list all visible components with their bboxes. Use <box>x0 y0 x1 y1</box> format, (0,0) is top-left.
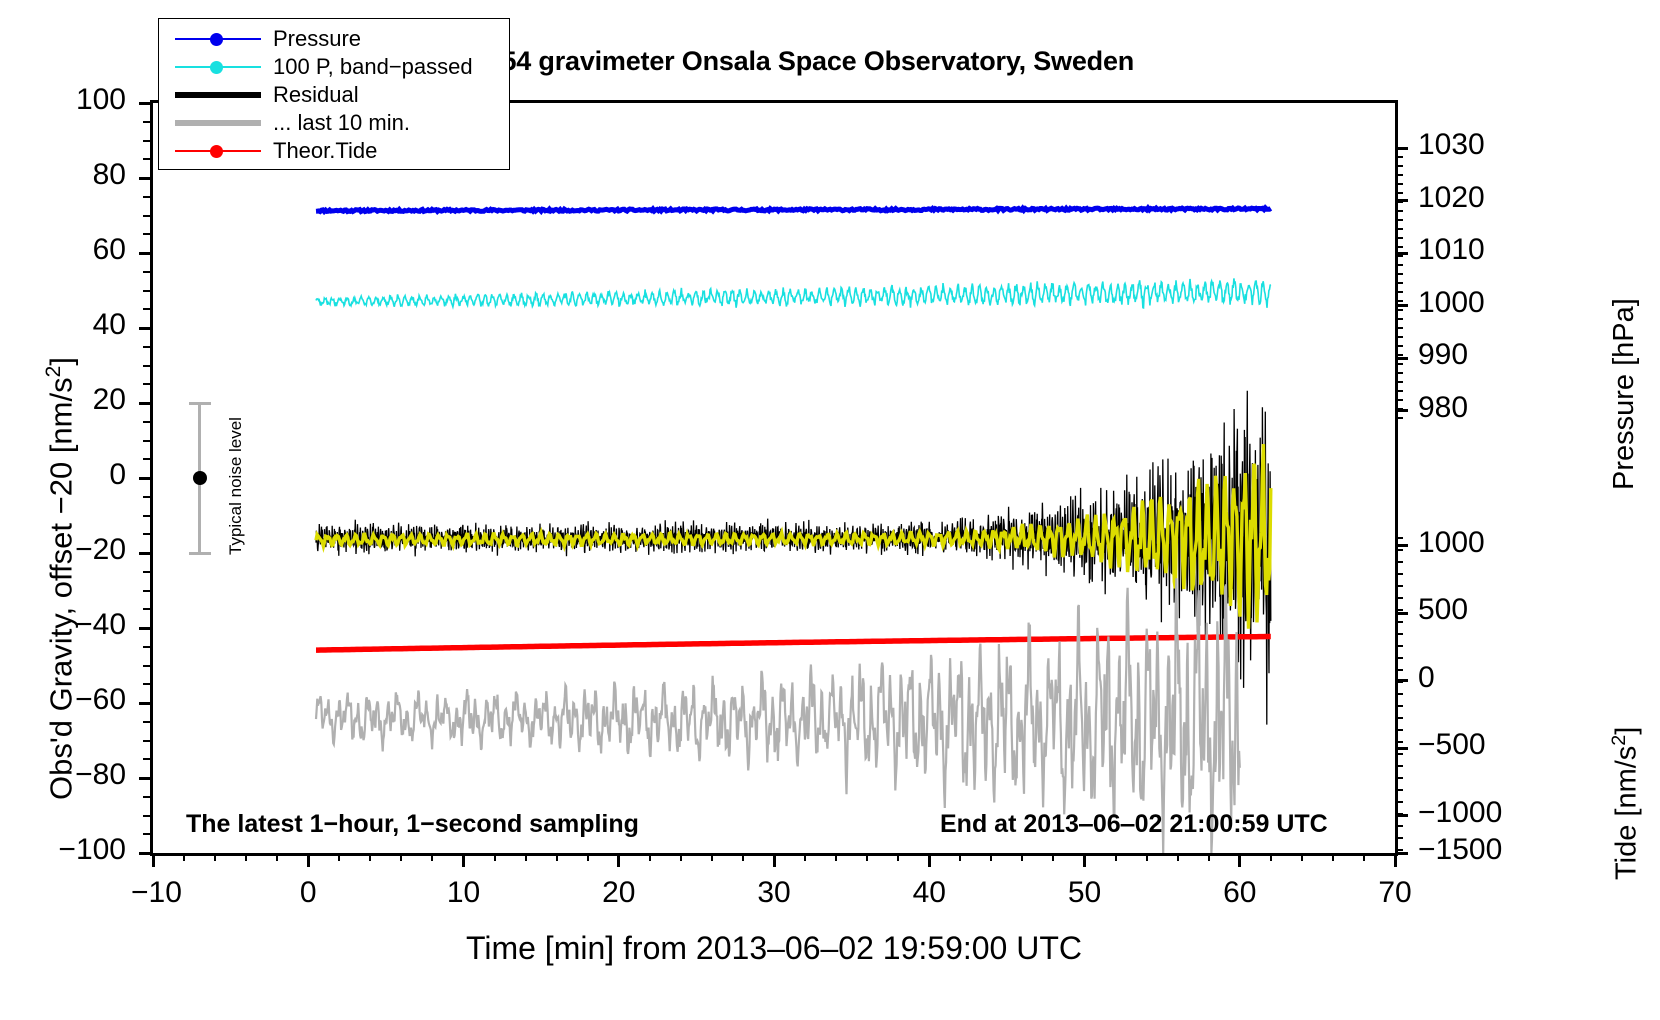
x-tick-minor <box>183 853 185 861</box>
y-tick-minor-tide <box>1395 585 1403 587</box>
x-tick-minor <box>1021 853 1023 861</box>
y-tick-minor-left <box>143 271 152 273</box>
y-tick-major-left <box>139 252 153 255</box>
legend-key-icon <box>175 25 261 53</box>
y-tick-minor-tide <box>1395 645 1403 647</box>
y-tick-label-pressure: 990 <box>1418 338 1468 372</box>
y-tick-minor-left <box>143 158 152 160</box>
x-tick-minor <box>835 853 837 861</box>
legend-key-icon <box>175 81 261 109</box>
series-bandpassed <box>316 278 1271 308</box>
y-axis-pressure-title: Pressure [hPa] <box>1608 298 1641 490</box>
y-tick-minor-left <box>143 683 152 685</box>
x-tick-major <box>462 853 465 867</box>
y-tick-minor-tide <box>1395 789 1403 791</box>
y-tick-label-left: −60 <box>0 683 126 717</box>
y-tick-minor-pressure <box>1395 174 1403 176</box>
legend-item-1[interactable]: 100 P, band−passed <box>159 53 509 81</box>
y-tick-major-left <box>139 627 153 630</box>
end-time-note: End at 2013‒06‒02 21:00:59 UTC <box>940 810 1328 839</box>
y-tick-label-left: −40 <box>0 608 126 642</box>
y-tick-minor-pressure <box>1395 417 1403 419</box>
y-tick-major-left <box>139 852 153 855</box>
y-tick-minor-left <box>143 346 152 348</box>
y-tick-minor-tide <box>1395 849 1403 851</box>
y-tick-major-left <box>139 327 153 330</box>
legend: Pressure100 P, band−passedResidual... la… <box>158 18 510 170</box>
x-tick-minor <box>649 853 651 861</box>
y-tick-label-left: −100 <box>0 833 126 867</box>
y-tick-minor-left <box>143 215 152 217</box>
x-tick-minor <box>431 853 433 861</box>
y-tick-minor-tide <box>1395 657 1403 659</box>
y-tick-label-tide: 0 <box>1418 661 1435 695</box>
y-tick-minor-pressure <box>1395 327 1403 329</box>
y-tick-minor-left <box>143 233 152 235</box>
y-tick-minor-pressure <box>1395 228 1403 230</box>
y-tick-label-pressure: 1000 <box>1418 286 1485 320</box>
x-tick-minor <box>804 853 806 861</box>
y-tick-minor-pressure <box>1395 318 1403 320</box>
y-tick-minor-tide <box>1395 537 1403 539</box>
y-tick-label-left: −80 <box>0 758 126 792</box>
x-tick-minor <box>1146 853 1148 861</box>
y-tick-minor-left <box>143 833 152 835</box>
x-tick-minor <box>866 853 868 861</box>
x-tick-minor <box>959 853 961 861</box>
y-tick-major-left <box>139 102 153 105</box>
y-tick-minor-left <box>143 421 152 423</box>
x-tick-minor <box>1208 853 1210 861</box>
y-axis-left-title-text: Obs'd Gravity, offset −20 [nm/s <box>43 377 78 800</box>
x-tick-major <box>1394 853 1397 867</box>
x-tick-minor <box>990 853 992 861</box>
y-tick-minor-tide <box>1395 609 1403 611</box>
y-tick-minor-pressure <box>1395 291 1403 293</box>
y-tick-minor-pressure <box>1395 156 1403 158</box>
y-tick-minor-left <box>143 365 152 367</box>
y-tick-major-left <box>139 177 153 180</box>
y-tick-minor-left <box>143 740 152 742</box>
x-tick-minor <box>1177 853 1179 861</box>
x-tick-minor <box>1363 853 1365 861</box>
legend-label: Pressure <box>273 26 361 52</box>
y-tick-minor-tide <box>1395 801 1403 803</box>
legend-key-icon <box>175 109 261 137</box>
x-tick-major <box>1083 853 1086 867</box>
y-tick-major-pressure <box>1395 304 1408 307</box>
y-tick-minor-tide <box>1395 729 1403 731</box>
y-tick-minor-pressure <box>1395 255 1403 257</box>
y-tick-minor-pressure <box>1395 399 1403 401</box>
y-tick-label-pressure: 980 <box>1418 391 1468 425</box>
y-tick-minor-left <box>143 440 152 442</box>
x-tick-label: 10 <box>442 876 486 910</box>
y-tick-minor-left <box>143 196 152 198</box>
x-tick-minor <box>897 853 899 861</box>
x-tick-minor <box>400 853 402 861</box>
y-tick-label-pressure: 1030 <box>1418 128 1485 162</box>
y-tick-minor-pressure <box>1395 246 1403 248</box>
x-tick-minor <box>369 853 371 861</box>
legend-key-icon <box>175 137 261 165</box>
legend-marker-dot-icon <box>210 145 223 158</box>
y-tick-minor-pressure <box>1395 390 1403 392</box>
y-tick-minor-left <box>143 121 152 123</box>
plot-area <box>150 100 1398 856</box>
y-tick-minor-pressure <box>1395 192 1403 194</box>
y-tick-major-left <box>139 777 153 780</box>
y-axis-tide-title-text: Tide [nm/s <box>1611 746 1643 880</box>
y-tick-minor-pressure <box>1395 381 1403 383</box>
y-tick-minor-tide <box>1395 837 1403 839</box>
y-tick-minor-pressure <box>1395 336 1403 338</box>
y-tick-minor-pressure <box>1395 282 1403 284</box>
y-tick-major-left <box>139 702 153 705</box>
y-tick-minor-tide <box>1395 621 1403 623</box>
y-tick-minor-pressure <box>1395 273 1403 275</box>
y-tick-minor-left <box>143 533 152 535</box>
y-tick-minor-pressure <box>1395 372 1403 374</box>
legend-marker-dot-icon <box>210 33 223 46</box>
y-tick-minor-pressure <box>1395 219 1403 221</box>
y-tick-minor-tide <box>1395 741 1403 743</box>
x-tick-major <box>928 853 931 867</box>
plot-svg <box>153 103 1395 853</box>
y-tick-minor-tide <box>1395 753 1403 755</box>
y-axis-left-title: Obs'd Gravity, offset −20 [nm/s2] <box>42 357 79 800</box>
y-tick-label-tide: 1000 <box>1418 526 1485 560</box>
y-tick-label-left: 20 <box>0 383 126 417</box>
y-tick-label-left: 100 <box>0 83 126 117</box>
y-tick-minor-left <box>143 608 152 610</box>
x-tick-major <box>1238 853 1241 867</box>
y-tick-major-tide <box>1395 612 1408 615</box>
y-tick-minor-left <box>143 496 152 498</box>
x-tick-label: 50 <box>1063 876 1107 910</box>
y-tick-minor-left <box>143 383 152 385</box>
y-tick-major-left <box>139 552 153 555</box>
y-tick-minor-tide <box>1395 597 1403 599</box>
y-axis-tide-title-sup: 2 <box>1608 735 1630 746</box>
y-tick-minor-tide <box>1395 825 1403 827</box>
y-tick-major-pressure <box>1395 357 1408 360</box>
y-tick-minor-left <box>143 140 152 142</box>
legend-label: 100 P, band−passed <box>273 54 473 80</box>
y-tick-minor-pressure <box>1395 147 1403 149</box>
legend-key-icon <box>175 53 261 81</box>
x-tick-minor <box>711 853 713 861</box>
y-tick-minor-pressure <box>1395 345 1403 347</box>
y-tick-label-left: −20 <box>0 533 126 567</box>
y-tick-minor-left <box>143 758 152 760</box>
x-tick-label: 60 <box>1218 876 1262 910</box>
x-tick-minor <box>1270 853 1272 861</box>
legend-label: ... last 10 min. <box>273 110 410 136</box>
y-tick-minor-pressure <box>1395 237 1403 239</box>
y-tick-minor-tide <box>1395 765 1403 767</box>
x-tick-minor <box>1052 853 1054 861</box>
y-tick-minor-pressure <box>1395 201 1403 203</box>
legend-item-4[interactable]: Theor.Tide <box>159 137 509 165</box>
x-tick-label: 30 <box>752 876 796 910</box>
series-pressure <box>316 208 1271 212</box>
y-tick-minor-pressure <box>1395 300 1403 302</box>
x-tick-major <box>307 853 310 867</box>
y-tick-minor-left <box>143 721 152 723</box>
y-axis-tide-title-close: ] <box>1611 727 1643 735</box>
x-tick-label: 70 <box>1373 876 1417 910</box>
y-axis-left-title-sup: 2 <box>42 366 65 378</box>
y-tick-minor-left <box>143 515 152 517</box>
y-tick-minor-left <box>143 458 152 460</box>
y-tick-label-left: 60 <box>0 233 126 267</box>
y-tick-minor-left <box>143 571 152 573</box>
y-tick-minor-pressure <box>1395 354 1403 356</box>
y-tick-minor-left <box>143 815 152 817</box>
x-tick-minor <box>1115 853 1117 861</box>
y-tick-label-left: 0 <box>0 458 126 492</box>
y-tick-minor-tide <box>1395 561 1403 563</box>
y-tick-minor-pressure <box>1395 363 1403 365</box>
legend-item-3[interactable]: ... last 10 min. <box>159 109 509 137</box>
y-tick-minor-left <box>143 646 152 648</box>
legend-item-0[interactable]: Pressure <box>159 25 509 53</box>
y-tick-major-left <box>139 402 153 405</box>
x-tick-minor <box>494 853 496 861</box>
x-tick-minor <box>245 853 247 861</box>
noise-error-cap <box>189 402 211 405</box>
y-tick-label-pressure: 1010 <box>1418 233 1485 267</box>
y-tick-minor-left <box>143 590 152 592</box>
x-tick-major <box>773 853 776 867</box>
y-tick-minor-tide <box>1395 705 1403 707</box>
x-tick-label: −10 <box>131 876 175 910</box>
y-tick-minor-left <box>143 665 152 667</box>
y-tick-minor-pressure <box>1395 210 1403 212</box>
sampling-note: The latest 1−hour, 1−second sampling <box>186 810 639 839</box>
y-tick-major-left <box>139 477 153 480</box>
y-tick-minor-tide <box>1395 717 1403 719</box>
x-tick-label: 40 <box>907 876 951 910</box>
x-tick-label: 20 <box>597 876 641 910</box>
x-tick-minor <box>276 853 278 861</box>
y-tick-major-tide <box>1395 544 1408 547</box>
legend-marker-dot-icon <box>210 61 223 74</box>
noise-center-dot <box>193 471 207 485</box>
y-tick-minor-left <box>143 290 152 292</box>
y-tick-minor-tide <box>1395 777 1403 779</box>
x-tick-major <box>617 853 620 867</box>
x-tick-minor <box>1332 853 1334 861</box>
x-tick-minor <box>338 853 340 861</box>
x-tick-minor <box>680 853 682 861</box>
y-tick-minor-tide <box>1395 681 1403 683</box>
y-tick-label-tide: 500 <box>1418 593 1468 627</box>
legend-line-swatch <box>175 120 261 126</box>
y-tick-minor-pressure <box>1395 183 1403 185</box>
y-tick-label-pressure: 1020 <box>1418 181 1485 215</box>
y-tick-minor-tide <box>1395 633 1403 635</box>
chart-page: SCG_054 gravimeter Onsala Space Observat… <box>0 0 1660 1020</box>
y-tick-minor-pressure <box>1395 264 1403 266</box>
y-tick-minor-left <box>143 796 152 798</box>
y-tick-major-tide <box>1395 747 1408 750</box>
x-tick-label: 0 <box>286 876 330 910</box>
y-tick-minor-left <box>143 308 152 310</box>
x-tick-minor <box>587 853 589 861</box>
y-tick-label-left: 40 <box>0 308 126 342</box>
noise-level-label: Typical noise level <box>226 417 246 555</box>
y-tick-minor-tide <box>1395 669 1403 671</box>
y-tick-label-tide: −500 <box>1418 728 1486 762</box>
y-tick-major-tide <box>1395 852 1408 855</box>
legend-line-swatch <box>175 92 261 98</box>
x-axis-title: Time [min] from 2013‒06‒02 19:59:00 UTC <box>150 930 1398 967</box>
y-axis-left-title-close: ] <box>43 357 78 366</box>
legend-label: Residual <box>273 82 359 108</box>
x-tick-minor <box>742 853 744 861</box>
y-tick-minor-tide <box>1395 813 1403 815</box>
x-tick-minor <box>556 853 558 861</box>
y-tick-minor-tide <box>1395 693 1403 695</box>
x-tick-minor <box>525 853 527 861</box>
y-tick-label-left: 80 <box>0 158 126 192</box>
x-tick-major <box>152 853 155 867</box>
y-axis-tide-title: Tide [nm/s2] <box>1608 727 1644 880</box>
y-tick-minor-tide <box>1395 549 1403 551</box>
legend-item-2[interactable]: Residual <box>159 81 509 109</box>
x-tick-minor <box>214 853 216 861</box>
y-tick-label-tide: −1000 <box>1418 796 1502 830</box>
y-tick-minor-pressure <box>1395 309 1403 311</box>
y-tick-minor-tide <box>1395 573 1403 575</box>
legend-label: Theor.Tide <box>273 138 377 164</box>
y-tick-minor-pressure <box>1395 165 1403 167</box>
noise-error-cap <box>189 552 211 555</box>
y-tick-label-tide: −1500 <box>1418 833 1502 867</box>
x-tick-minor <box>1301 853 1303 861</box>
y-tick-minor-pressure <box>1395 408 1403 410</box>
